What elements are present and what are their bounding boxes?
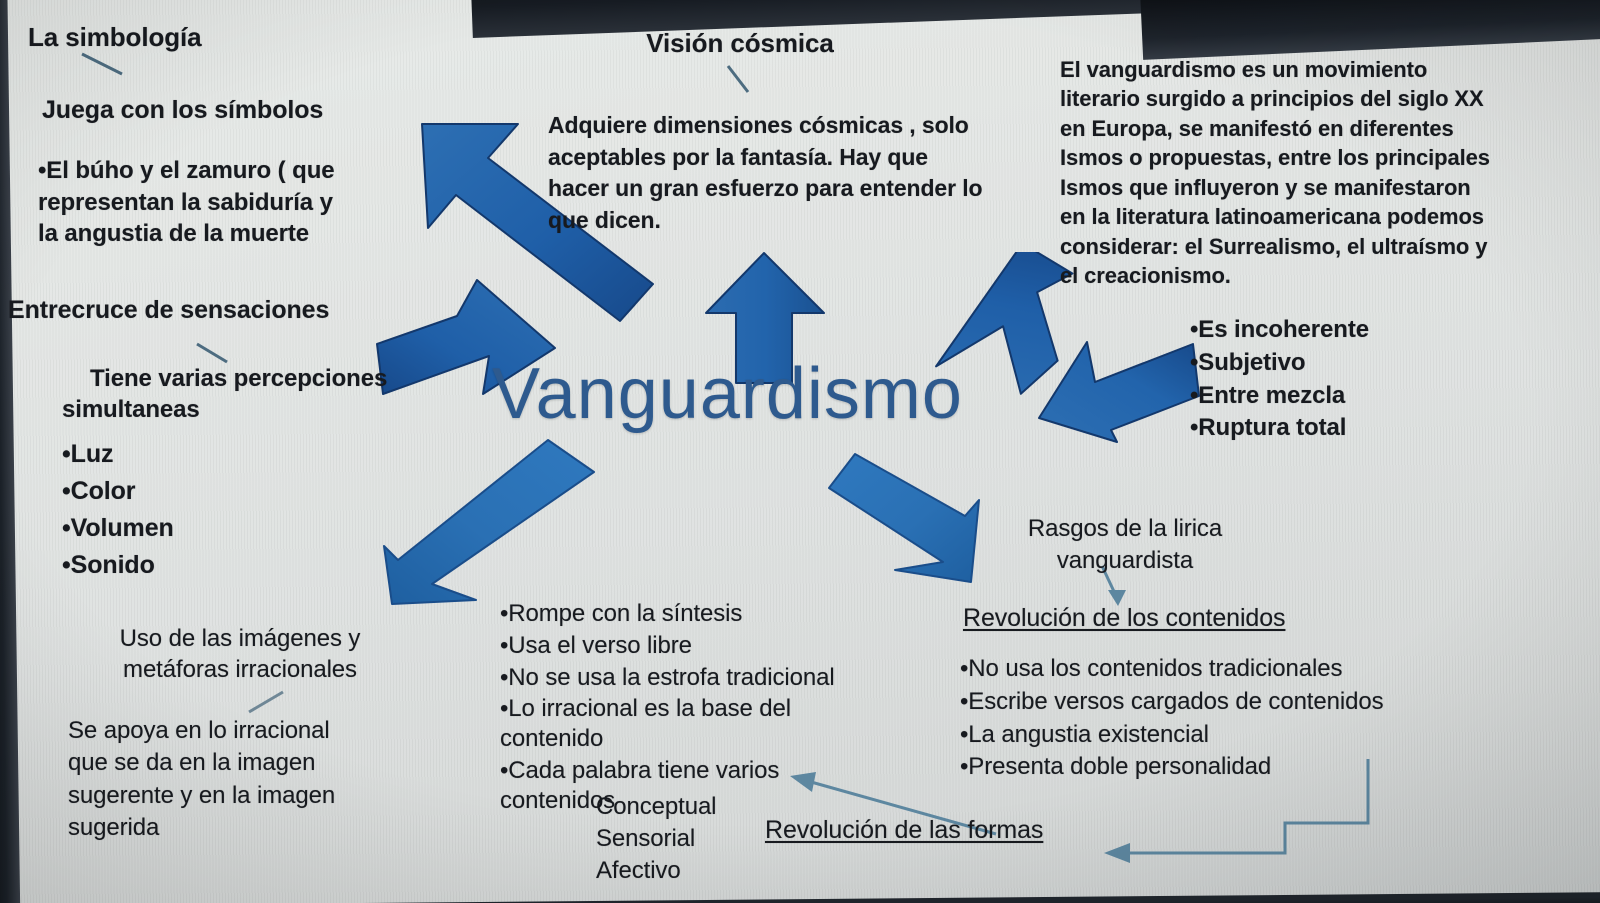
heading-imagenes: Uso de las imágenes y metáforas irracion… bbox=[70, 623, 410, 685]
heading-simbologia: La simbología bbox=[28, 22, 202, 52]
list-item: •Ruptura total bbox=[1190, 414, 1369, 442]
tick-connector-vision-icon bbox=[724, 62, 754, 96]
list-item: •No se usa la estrofa tradicional bbox=[500, 664, 835, 692]
list-rasgos: •No usa los contenidos tradicionales •Es… bbox=[960, 655, 1384, 781]
list-item: •Luz bbox=[62, 440, 174, 469]
body-imagenes: Se apoya en lo irracional que se da en l… bbox=[68, 715, 335, 845]
arrow-up-right-small-icon bbox=[1035, 330, 1205, 450]
heading-entrecruce: Entrecruce de sensaciones bbox=[8, 296, 329, 325]
list-item: •Color bbox=[62, 477, 174, 506]
list-item: •Entre mezcla bbox=[1190, 382, 1369, 410]
subheading-entrecruce: Tiene varias percepciones simultaneas bbox=[62, 363, 387, 425]
list-item: •No usa los contenidos tradicionales bbox=[960, 655, 1384, 683]
list-formas-sub: Conceptual Sensorial Afectivo bbox=[596, 793, 716, 884]
heading-rasgos: Rasgos de la lirica vanguardista bbox=[960, 513, 1290, 576]
list-item: •Sonido bbox=[62, 551, 174, 580]
list-item: •Es incoherente bbox=[1190, 316, 1369, 344]
list-formas: •Rompe con la síntesis •Usa el verso lib… bbox=[500, 600, 835, 815]
list-item: •Presenta doble personalidad bbox=[960, 753, 1384, 781]
tick-connector-imagenes-icon bbox=[243, 688, 287, 716]
heading-vision-cosmica: Visión cósmica bbox=[560, 28, 920, 58]
list-caracteristicas: •Es incoherente •Subjetivo •Entre mezcla… bbox=[1190, 316, 1369, 442]
list-item: •Subjetivo bbox=[1190, 349, 1369, 377]
list-item: •Cada palabra tiene varios bbox=[500, 757, 835, 785]
list-item: •Usa el verso libre bbox=[500, 632, 835, 660]
list-item: •Rompe con la síntesis bbox=[500, 600, 835, 628]
list-item: •Lo irracional es la base del bbox=[500, 695, 835, 723]
list-item: Sensorial bbox=[596, 825, 716, 853]
list-item: •Escribe versos cargados de contenidos bbox=[960, 688, 1384, 716]
label-revolucion-formas: Revolución de las formas bbox=[765, 816, 1043, 845]
tick-connector-simbologia-icon bbox=[78, 50, 128, 80]
list-item: Conceptual bbox=[596, 793, 716, 821]
slide-photo: La simbología Juega con los símbolos •El… bbox=[0, 0, 1600, 903]
subheading-simbologia: Juega con los símbolos bbox=[42, 96, 323, 125]
list-item: Afectivo bbox=[596, 857, 716, 885]
list-item: •Volumen bbox=[62, 514, 174, 543]
list-entrecruce: •Luz •Color •Volumen •Sonido bbox=[62, 440, 174, 580]
list-item-cont: contenido bbox=[500, 725, 835, 753]
subtitle-revolucion-contenidos: Revolución de los contenidos bbox=[963, 604, 1285, 633]
page-title: Vanguardismo bbox=[492, 358, 963, 430]
bullets-simbologia: •El búho y el zamuro ( que representan l… bbox=[38, 155, 335, 250]
list-item: •La angustia existencial bbox=[960, 721, 1384, 749]
body-definicion: El vanguardismo es un movimiento literar… bbox=[1060, 55, 1490, 291]
arrow-down-left-big-icon bbox=[362, 432, 642, 617]
body-vision-cosmica: Adquiere dimensiones cósmicas , solo ace… bbox=[548, 110, 983, 237]
